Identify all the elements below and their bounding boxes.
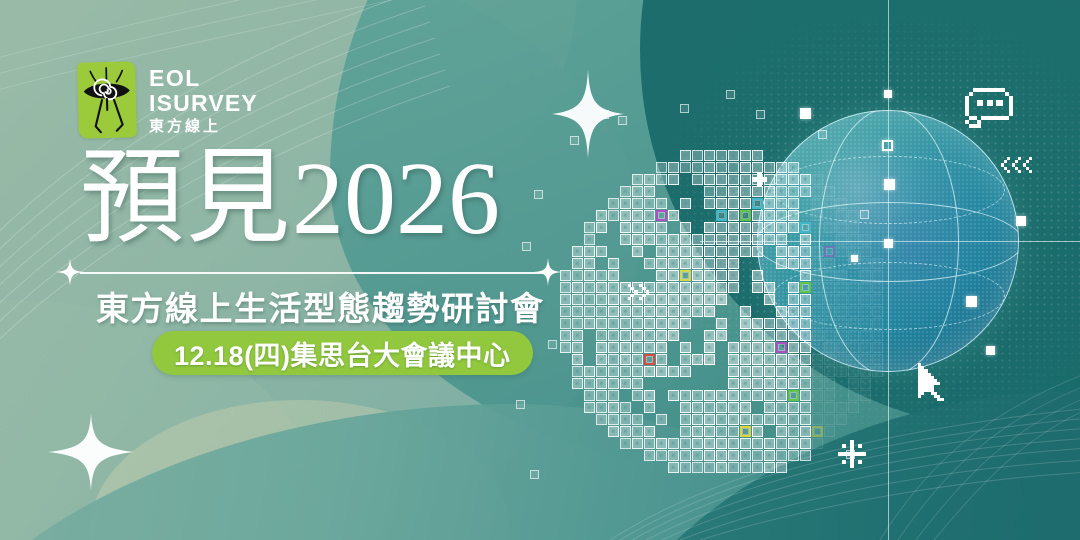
globe-pixel [788,414,799,425]
globe-pixel [728,438,739,449]
globe-pixel [596,414,607,425]
globe-pixel [668,162,679,173]
globe-pixel [824,366,835,377]
globe-pixel [644,366,655,377]
globe-pixel [752,378,763,389]
globe-pixel [668,294,679,305]
globe-pixel [740,390,751,401]
globe-pixel [788,162,799,173]
globe-pixel [656,162,667,173]
globe-pixel [596,318,607,329]
event-subtitle: 東方線上生活型態趨勢研討會 [96,282,536,330]
globe-pixel [836,342,847,353]
globe-pixel [788,438,799,449]
globe-pixel [728,390,739,401]
globe-pixel [632,426,643,437]
globe-pixel [776,366,787,377]
globe-pixel [848,330,859,341]
globe-pixel [800,270,811,281]
globe-pixel [668,330,679,341]
globe-pixel [716,222,727,233]
globe-pixel [728,258,739,269]
globe-pixel [560,342,571,353]
globe-pixel-loose [756,110,765,119]
globe-pixel [812,198,823,209]
icon-pixel [937,398,943,401]
globe-pixel [692,402,703,413]
globe-pixel [728,174,739,185]
globe-pixel [824,222,835,233]
globe-pixel [740,174,751,185]
globe-pixel [800,294,811,305]
globe-pixel [668,462,679,473]
globe-pixel [752,414,763,425]
globe-pixel [800,390,811,401]
globe-pixel [668,258,679,269]
globe-pixel [776,402,787,413]
four-point-star-sparkle-top [552,70,624,158]
globe-pixel [812,306,823,317]
globe-pixel [632,246,643,257]
globe-pixel [656,414,667,425]
globe-pixel [872,366,883,377]
globe-pixel [848,378,859,389]
icon-pixel [969,116,977,120]
globe-pixel [584,270,595,281]
globe-pixel [680,462,691,473]
globe-pixel [692,390,703,401]
globe-pixel [860,282,871,293]
globe-pixel [716,450,727,461]
globe-pixel [836,294,847,305]
globe-pixel [596,390,607,401]
globe-pixel [728,150,739,161]
globe-pixel [716,150,727,161]
globe-pixel-accent [740,210,751,221]
globe-pixel [848,390,859,401]
globe-pixel [752,282,763,293]
icon-pixel [977,100,983,106]
globe-pixel [704,234,715,245]
globe-pixel [656,306,667,317]
globe-pixel [596,222,607,233]
globe-pixel [680,234,691,245]
globe-pixel [728,222,739,233]
globe-pixel [668,390,679,401]
globe-pixel [704,186,715,197]
globe-pixel [620,330,631,341]
globe-pixel [584,258,595,269]
globe-pixel [596,246,607,257]
globe-pixel [680,318,691,329]
globe-pixel [740,198,751,209]
icon-pixel [987,100,993,106]
globe-pixel [764,402,775,413]
globe-pixel [668,450,679,461]
globe-pixel [716,198,727,209]
globe-pixel [704,198,715,209]
globe-pixel [872,354,883,365]
globe-pixel [728,414,739,425]
globe-pixel [860,234,871,245]
globe-pixel [752,462,763,473]
globe-pixel [800,438,811,449]
globe-pixel [704,330,715,341]
globe-pixel [836,222,847,233]
globe-pixel [764,438,775,449]
globe-pixel [632,342,643,353]
icon-pixel [1029,170,1032,173]
globe-pixel [680,402,691,413]
globe-pixel [740,330,751,341]
globe-pixel [692,294,703,305]
globe-pixel [752,438,763,449]
globe-pixel [716,294,727,305]
globe-pixel [788,450,799,461]
globe-pixel [680,450,691,461]
globe-pixel [584,318,595,329]
globe-pixel [836,414,847,425]
globe-pixel [620,306,631,317]
globe-pixel [644,426,655,437]
globe-pixel [680,222,691,233]
globe-pixel [680,198,691,209]
brand-line-chinese: 東方線上 [149,119,258,134]
globe-pixel [764,450,775,461]
globe-pixel [644,222,655,233]
globe-pixel [788,246,799,257]
icon-pixel [1007,157,1010,160]
globe-pixel [848,342,859,353]
globe-pixel [800,450,811,461]
globe-pixel [692,258,703,269]
icon-pixel [1009,96,1013,116]
icon-pixel [973,88,1005,92]
globe-pixel [692,426,703,437]
globe-pixel [704,162,715,173]
globe-pixel [716,174,727,185]
globe-pixel [800,258,811,269]
globe-pixel [632,330,643,341]
icon-pixel [965,96,969,116]
double-right-chevron-icon [628,284,656,300]
globe-pixel [812,258,823,269]
globe-pixel [764,318,775,329]
globe-pixel [728,450,739,461]
globe-pixel-accent [656,210,667,221]
icon-pixel [1004,160,1007,163]
globe-pixel [740,186,751,197]
icon-pixel [918,395,921,398]
globe-pixel [776,354,787,365]
globe-pixel [788,378,799,389]
globe-pixel [620,198,631,209]
globe-pixel [584,282,595,293]
globe-pixel [644,174,655,185]
globe-pixel [740,306,751,317]
globe-pixel [872,330,883,341]
globe-pixel [740,414,751,425]
globe-pixel [800,426,811,437]
globe-pixel [740,438,751,449]
icon-pixel [969,92,973,96]
globe-pixel [608,282,619,293]
globe-pixel [656,282,667,293]
globe-pixel [800,306,811,317]
globe-pixel [692,450,703,461]
globe-pixel [620,318,631,329]
globe-pixel [752,330,763,341]
globe-pixel [776,234,787,245]
globe-pixel [680,150,691,161]
globe-pixel-accent [644,354,655,365]
globe-pixel [692,150,703,161]
globe-pixel [776,462,787,473]
globe-pixel [872,258,883,269]
globe-pixel [740,222,751,233]
globe-pixel-loose [516,400,525,409]
globe-pixel [776,426,787,437]
globe-pixel [776,222,787,233]
globe-pixel [656,270,667,281]
globe-pixel [812,402,823,413]
globe-pixel [824,414,835,425]
globe-pixel [584,378,595,389]
globe-pixel [872,294,883,305]
globe-pixel [740,150,751,161]
divider-line [80,272,544,274]
globe-pixel [836,402,847,413]
globe-pixel [620,378,631,389]
globe-pixel [656,222,667,233]
globe-pixel [788,330,799,341]
globe-pixel [584,222,595,233]
globe-pixel [620,210,631,221]
globe-pixel [704,438,715,449]
globe-pixel [608,378,619,389]
globe-pixel [644,450,655,461]
globe-pixel [860,306,871,317]
globe-pixel [644,390,655,401]
globe-pixel [848,306,859,317]
globe-pixel [812,390,823,401]
globe-pixel [740,234,751,245]
globe-pixel [692,270,703,281]
globe-pixel [752,210,763,221]
globe-pixel [656,294,667,305]
globe-pixel [680,258,691,269]
globe-pixel [632,414,643,425]
globe-pixel [872,282,883,293]
globe-pixel [824,282,835,293]
globe-pixel [608,366,619,377]
globe-pixel [656,174,667,185]
globe-pixel [716,462,727,473]
globe-pixel [656,438,667,449]
globe-pixel [728,198,739,209]
globe-pixel [740,342,751,353]
pixel-chat-bubble-icon [965,88,1011,126]
globe-pixel [632,306,643,317]
globe-pixel [836,330,847,341]
globe-pixel [716,246,727,257]
globe-pixel [812,354,823,365]
globe-pixel [704,150,715,161]
globe-pixel [728,462,739,473]
globe-pixel [608,390,619,401]
globe-pixel [656,246,667,257]
globe-pixel [572,330,583,341]
globe-pixel [764,354,775,365]
eol-eye-spiral-figure-icon [77,61,137,138]
globe-pixel [632,210,643,221]
globe-pixel [752,162,763,173]
globe-pixel [644,318,655,329]
globe-pixel [812,210,823,221]
sphere-node-right [1016,216,1026,226]
globe-pixel [572,306,583,317]
globe-pixel [596,342,607,353]
globe-pixel [860,318,871,329]
globe-pixel [680,162,691,173]
globe-pixel [836,210,847,221]
globe-pixel [656,354,667,365]
globe-pixel [644,186,655,197]
globe-pixel [680,438,691,449]
globe-pixel [716,318,727,329]
globe-pixel [632,390,643,401]
globe-pixel [764,294,775,305]
icon-pixel [842,444,846,448]
globe-pixel [788,258,799,269]
globe-pixel [788,282,799,293]
globe-pixel [728,246,739,257]
globe-pixel [836,234,847,245]
pixel-sparkle-icon [838,440,866,468]
globe-pixel [632,354,643,365]
globe-pixel [788,210,799,221]
globe-pixel [740,402,751,413]
globe-pixel [656,258,667,269]
globe-pixel [764,198,775,209]
globe-pixel-accent [812,426,823,437]
event-banner: EOL ISURVEY 東方線上 預見2026 東方線上生活型態趨勢研討會 12… [0,0,1080,540]
globe-pixel [728,354,739,365]
globe-pixel [728,186,739,197]
globe-pixel [680,426,691,437]
globe-pixel [812,294,823,305]
sphere-node-bottomright [986,346,995,355]
globe-pixel [632,366,643,377]
globe-pixel [608,414,619,425]
globe-pixel [596,330,607,341]
globe-pixel [704,174,715,185]
globe-pixel [704,342,715,353]
globe-pixel [728,270,739,281]
globe-pixel [860,366,871,377]
globe-pixel [716,186,727,197]
globe-pixel [764,222,775,233]
globe-pixel [644,342,655,353]
globe-pixel [596,282,607,293]
globe-pixel [644,258,655,269]
globe-pixel [668,174,679,185]
globe-pixel [692,306,703,317]
globe-pixel [596,366,607,377]
globe-pixel [620,366,631,377]
globe-pixel [740,318,751,329]
globe-pixel-accent [776,342,787,353]
globe-pixel [644,198,655,209]
globe-pixel [644,402,655,413]
globe-pixel-loose [860,210,869,219]
globe-pixel [800,402,811,413]
globe-pixel-accent [788,390,799,401]
globe-pixel [620,186,631,197]
date-venue-badge[interactable]: 12.18(四)集思台大會議中心 [152,331,533,375]
globe-pixel [824,198,835,209]
globe-pixel [728,378,739,389]
globe-pixel [644,438,655,449]
globe-pixel [608,402,619,413]
globe-pixel [752,450,763,461]
globe-pixel [764,378,775,389]
globe-pixel [788,318,799,329]
globe-pixel [632,234,643,245]
globe-pixel [752,222,763,233]
globe-pixel [608,330,619,341]
globe-pixel [704,222,715,233]
globe-pixel [848,402,859,413]
globe-pixel [620,426,631,437]
globe-pixel [776,438,787,449]
globe-pixel [608,198,619,209]
globe-pixel [680,366,691,377]
globe-pixel [572,282,583,293]
globe-pixel [800,186,811,197]
globe-pixel [608,306,619,317]
globe-pixel [776,210,787,221]
globe-pixel-accent [680,270,691,281]
globe-pixel [800,234,811,245]
globe-pixel [824,294,835,305]
globe-pixel [728,162,739,173]
globe-pixel [776,318,787,329]
globe-pixel [812,378,823,389]
globe-pixel [716,402,727,413]
globe-pixel-accent [800,222,811,233]
pixel-sparkle-small-icon [752,172,768,188]
globe-pixel [872,306,883,317]
globe-pixel [620,234,631,245]
globe-pixel [740,462,751,473]
icon-pixel [850,464,854,468]
brand-wordmark: EOL ISURVEY 東方線上 [149,67,258,134]
globe-pixel [716,426,727,437]
globe-pixel [788,342,799,353]
globe-pixel [764,342,775,353]
globe-pixel [668,438,679,449]
globe-pixel [644,306,655,317]
globe-pixel [608,210,619,221]
globe-pixel-accent [824,246,835,257]
globe-pixel [740,162,751,173]
globe-pixel [848,366,859,377]
globe-pixel [860,258,871,269]
globe-pixel [848,282,859,293]
globe-pixel [848,246,859,257]
globe-pixel [608,354,619,365]
